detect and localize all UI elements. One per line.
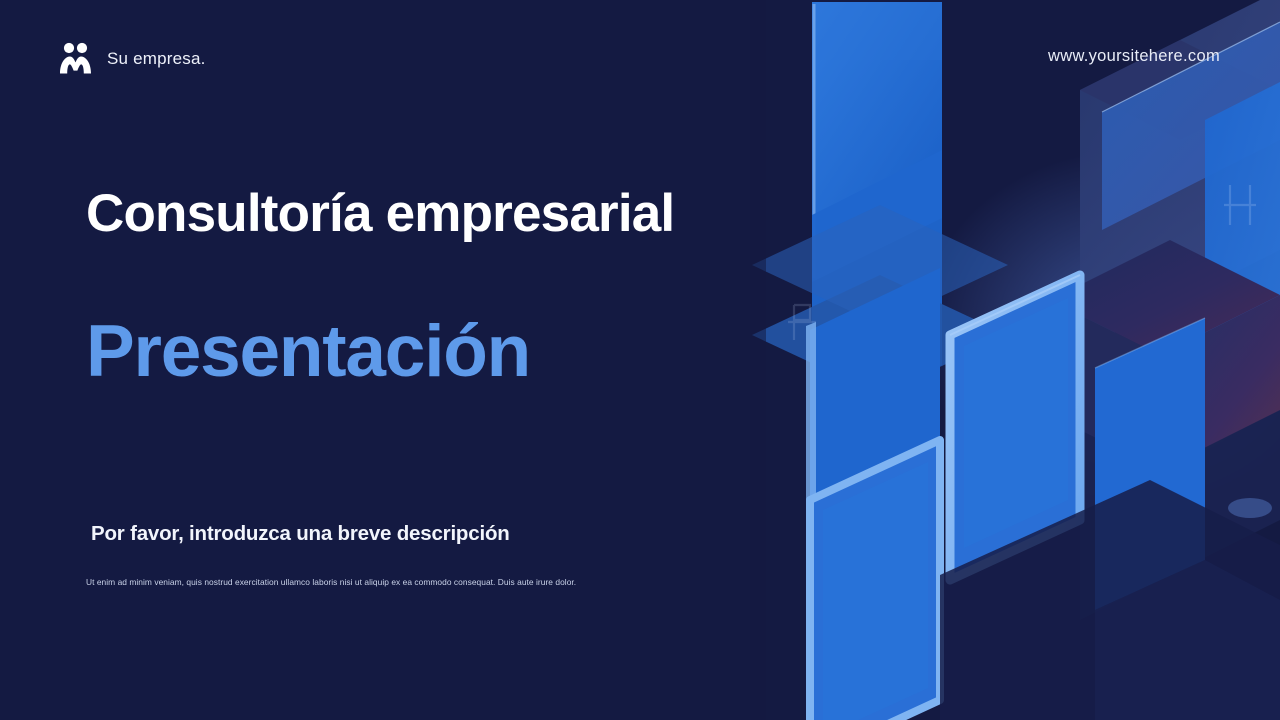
description-prompt: Por favor, introduzca una breve descripc… [91, 522, 510, 546]
body-paragraph: Ut enim ad minim veniam, quis nostrud ex… [86, 576, 706, 588]
brand-name: Su empresa. [107, 49, 206, 69]
slide-title: Consultoría empresarial [86, 186, 746, 242]
brand-lockup[interactable]: Su empresa. [57, 42, 206, 76]
site-url-link[interactable]: www.yoursitehere.com [1048, 47, 1220, 66]
presentation-slide: Su empresa. www.yoursitehere.com Consult… [0, 0, 1280, 720]
title-block: Consultoría empresarial Presentación [86, 186, 746, 391]
slide-subtitle: Presentación [86, 242, 746, 391]
isometric-cubes-artwork [750, 0, 1280, 720]
two-people-logo-icon [57, 42, 93, 76]
